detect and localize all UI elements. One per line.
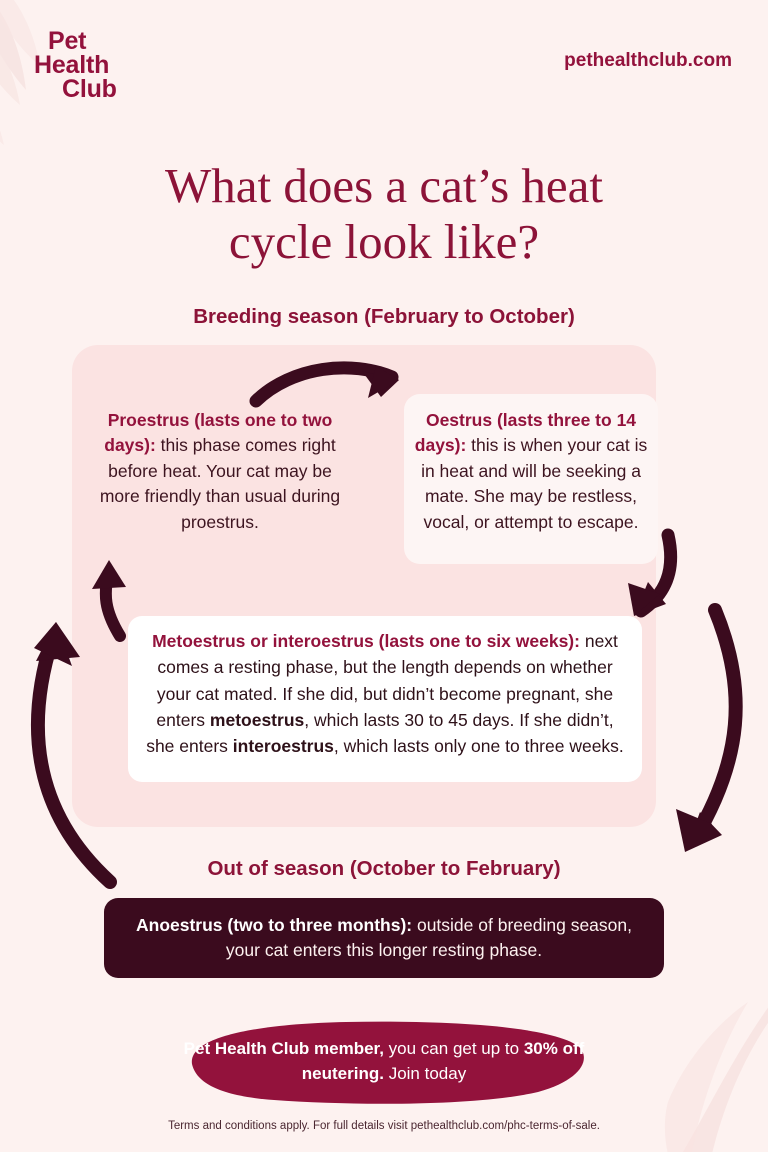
cta-bold-1: Pet Health Club member, [184,1039,384,1058]
phase-oestrus: Oestrus (lasts three to 14 days): this i… [410,408,652,535]
phase-proestrus: Proestrus (lasts one to two days): this … [96,408,344,535]
out-of-season-label: Out of season (October to February) [0,857,768,881]
metoestrus-emphasis-1: metoestrus [210,710,304,730]
metoestrus-body-3: , which lasts only one to three weeks. [334,736,624,756]
brand-logo[interactable]: Pet Health Club [48,30,117,101]
page-title-line-1: What does a cat’s heat [0,158,768,214]
curved-arrow-down-left-icon [676,610,736,852]
page-title: What does a cat’s heat cycle look like? [0,158,768,271]
phase-anoestrus-card: Anoestrus (two to three months): outside… [104,898,664,978]
cta-text-1: you can get up to [384,1039,524,1058]
terms-and-conditions[interactable]: Terms and conditions apply. For full det… [0,1120,768,1132]
anoestrus-lead: Anoestrus (two to three months): [136,915,412,935]
phase-metoestrus: Metoestrus or interoestrus (lasts one to… [140,628,630,759]
breeding-season-label: Breeding season (February to October) [0,305,768,329]
cta-text: Pet Health Club member, you can get up t… [178,1020,590,1104]
cta-text-2: Join today [384,1064,466,1083]
metoestrus-emphasis-2: interoestrus [233,736,334,756]
page-title-line-2: cycle look like? [0,214,768,270]
phase-anoestrus: Anoestrus (two to three months): outside… [124,913,644,964]
logo-line-3: Club [62,78,117,102]
membership-cta[interactable]: Pet Health Club member, you can get up t… [178,1020,590,1104]
site-url[interactable]: pethealthclub.com [564,50,732,72]
infographic-page: Pet Health Club pethealthclub.com What d… [0,0,768,1152]
logo-line-2: Health [34,54,117,78]
metoestrus-lead: Metoestrus or interoestrus (lasts one to… [152,631,580,651]
